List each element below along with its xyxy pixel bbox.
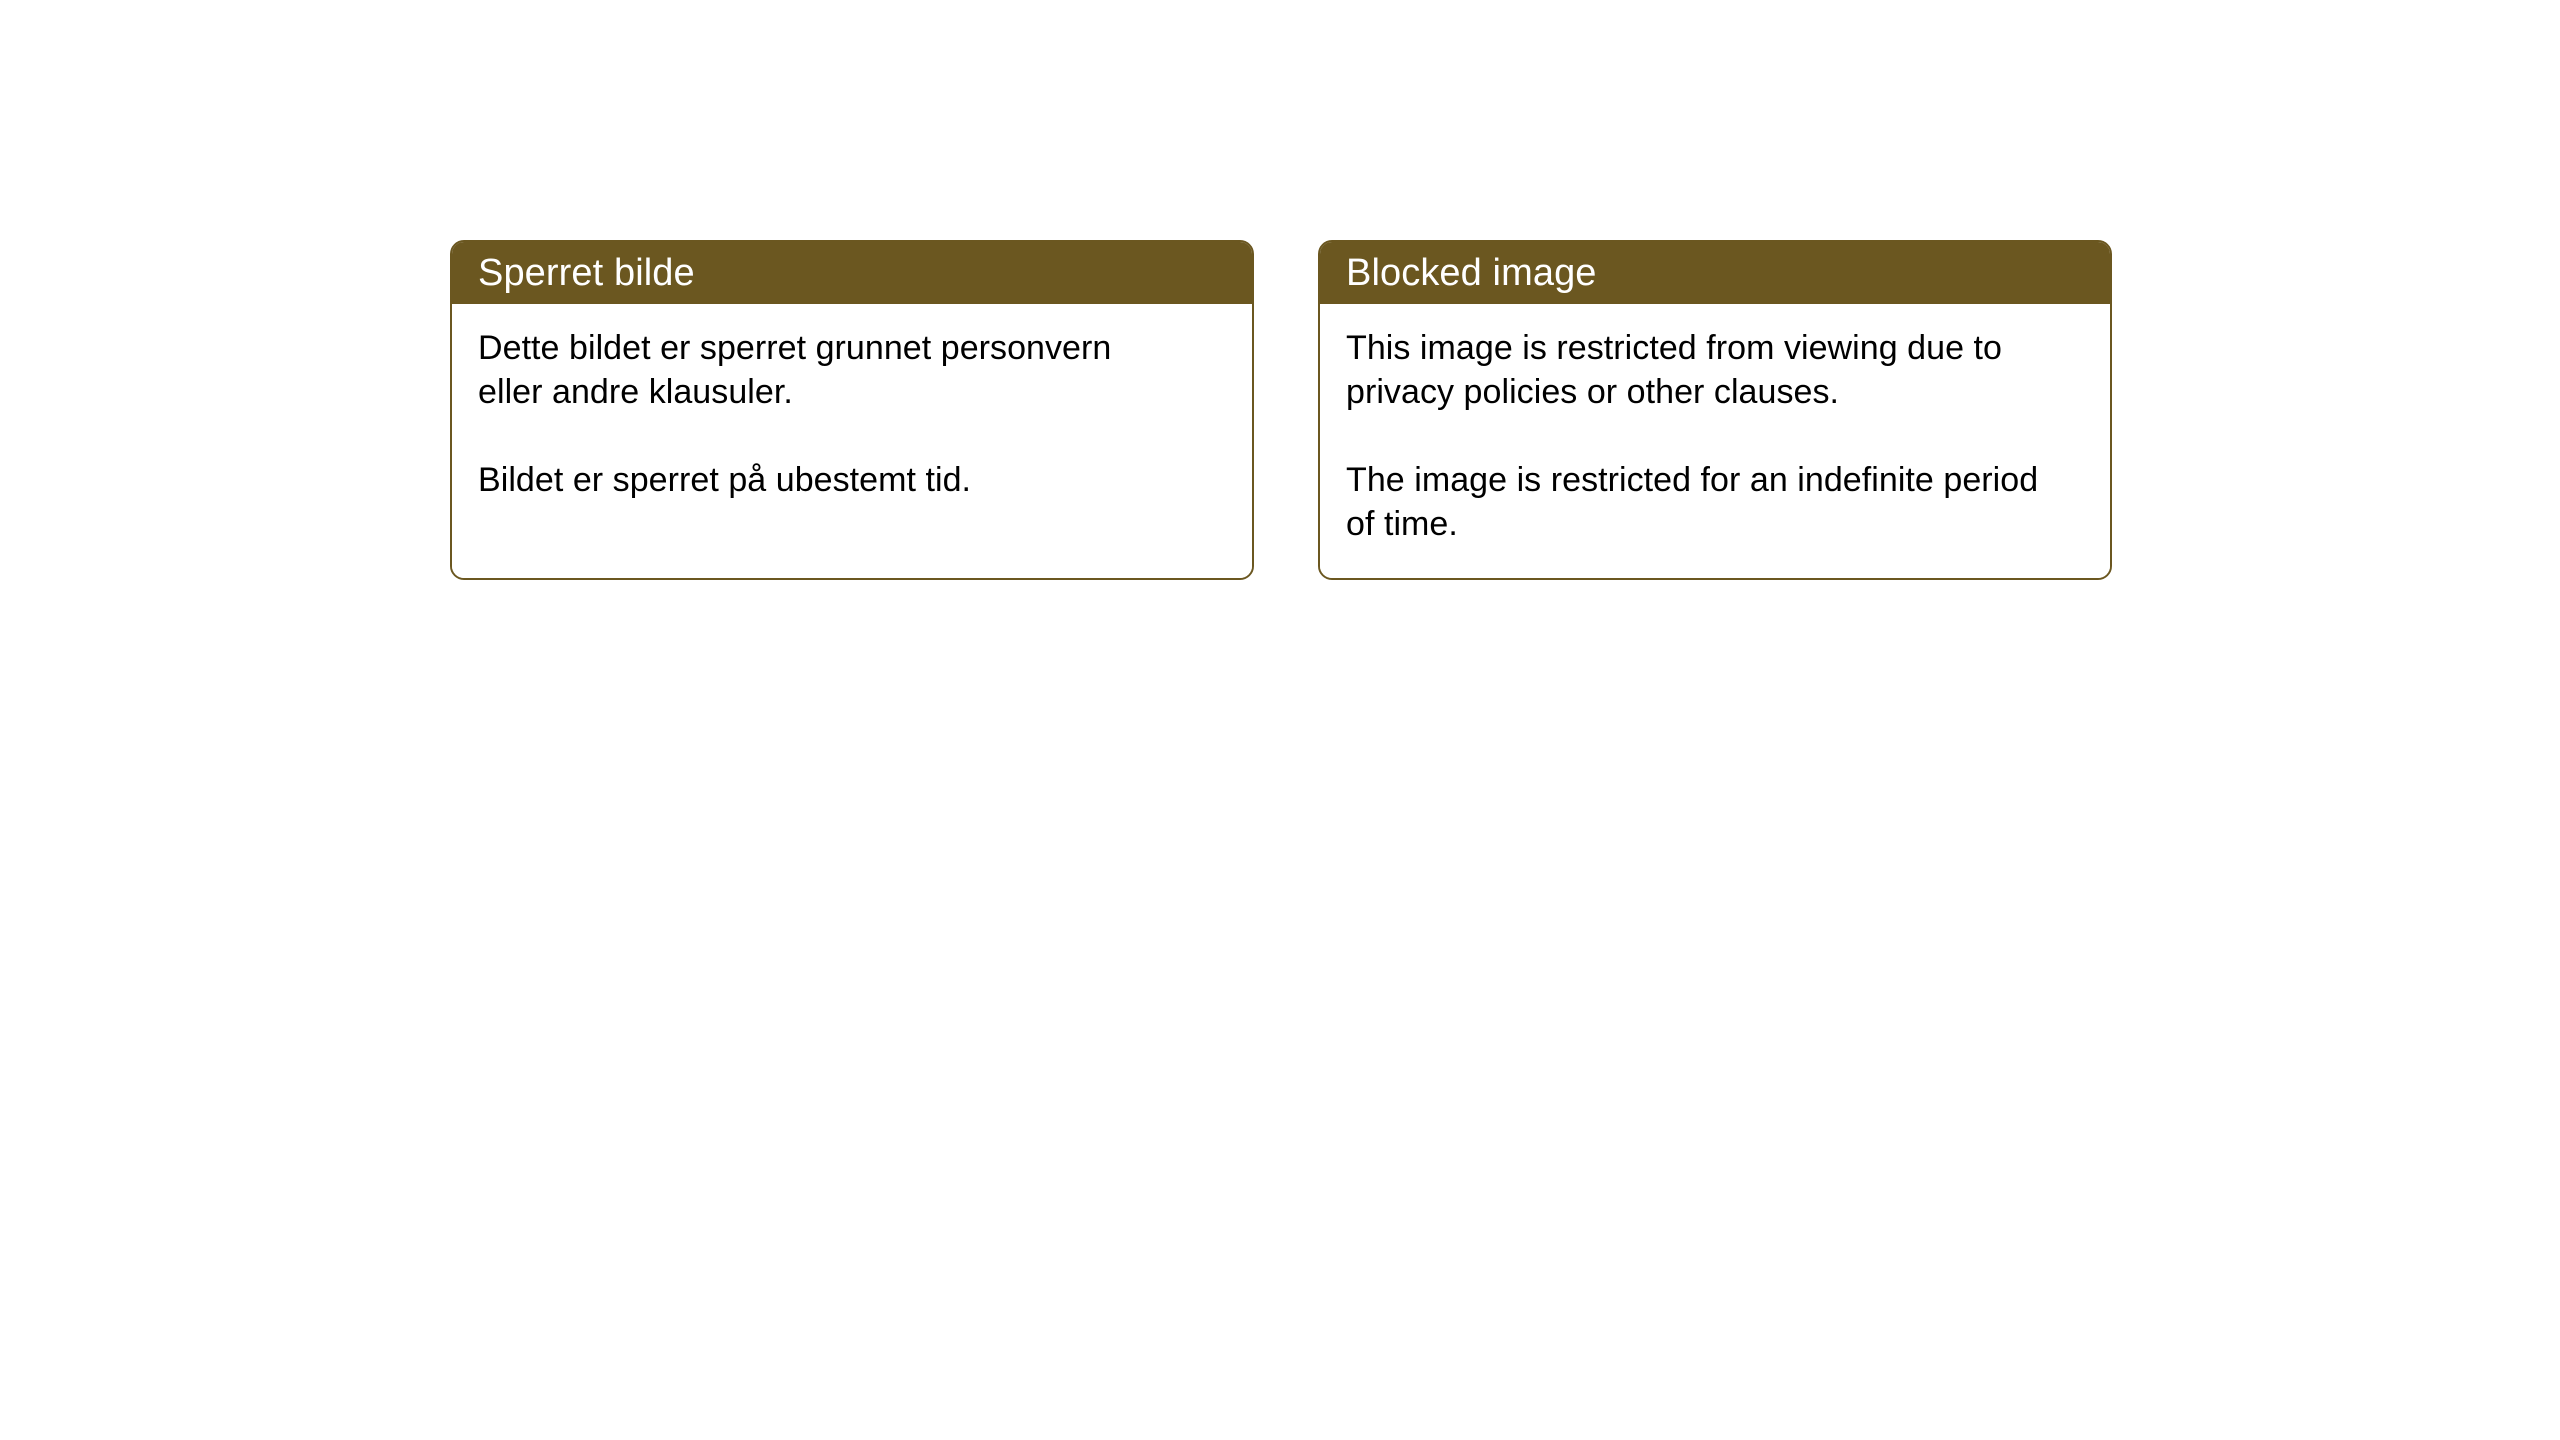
card-title-english: Blocked image [1346,251,1597,295]
card-header-english: Blocked image [1320,242,2110,304]
card-body-english: This image is restricted from viewing du… [1320,304,2110,578]
card-title-norwegian: Sperret bilde [478,251,695,295]
paragraph-spacer [1346,414,2084,458]
card-paragraph-reason-norwegian: Dette bildet er sperret grunnet personve… [478,326,1178,414]
paragraph-spacer [478,414,1226,458]
card-header-norwegian: Sperret bilde [452,242,1252,304]
card-paragraph-duration-norwegian: Bildet er sperret på ubestemt tid. [478,458,1178,502]
card-paragraph-duration-english: The image is restricted for an indefinit… [1346,458,2046,546]
card-paragraph-reason-english: This image is restricted from viewing du… [1346,326,2046,414]
page-canvas: Sperret bilde Dette bildet er sperret gr… [0,0,2560,1440]
blocked-image-card-norwegian: Sperret bilde Dette bildet er sperret gr… [450,240,1254,580]
card-body-norwegian: Dette bildet er sperret grunnet personve… [452,304,1252,578]
blocked-image-card-english: Blocked image This image is restricted f… [1318,240,2112,580]
